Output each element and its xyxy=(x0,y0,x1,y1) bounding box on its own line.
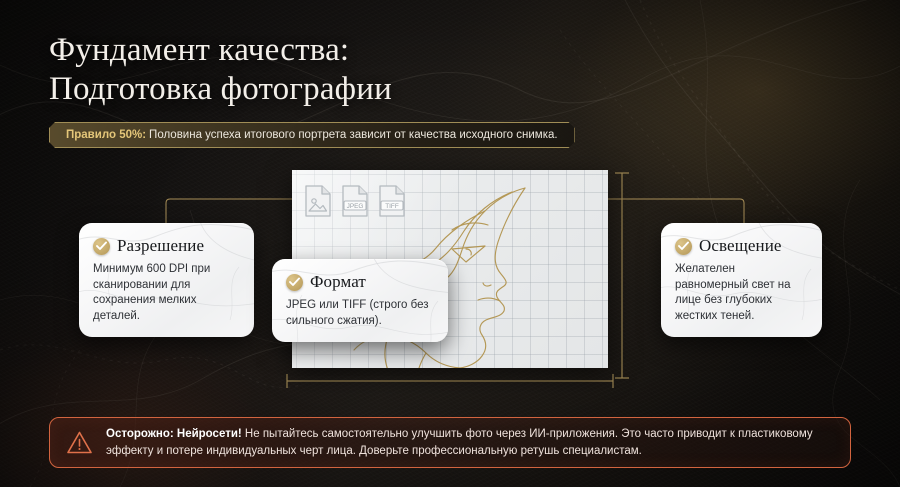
card-header: Разрешение xyxy=(93,237,238,255)
info-card-lighting: Освещение Желателен равномерный свет на … xyxy=(661,223,822,337)
file-type-icons: JPEG TIFF xyxy=(304,184,406,218)
warning-banner: Осторожно: Нейросети! Не пытайтесь самос… xyxy=(49,417,851,468)
info-card-resolution: Разрешение Минимум 600 DPI при сканирова… xyxy=(79,223,254,337)
check-circle-icon xyxy=(286,274,303,291)
card-title: Освещение xyxy=(699,237,782,255)
slide-canvas: Фундамент качества: Подготовка фотографи… xyxy=(0,0,900,487)
check-circle-icon xyxy=(93,238,110,255)
jpeg-file-icon-label: JPEG xyxy=(347,203,364,210)
card-body: Минимум 600 DPI при сканировании для сох… xyxy=(93,262,238,324)
check-circle-icon xyxy=(675,238,692,255)
card-header: Освещение xyxy=(675,237,806,255)
tiff-file-icon-label: TIFF xyxy=(385,203,399,210)
warning-label: Осторожно: Нейросети! xyxy=(106,428,242,440)
card-header: Формат xyxy=(286,273,432,291)
card-body: JPEG или TIFF (строго без сильного сжати… xyxy=(286,298,432,329)
jpeg-file-icon: JPEG xyxy=(341,184,369,218)
card-title: Разрешение xyxy=(117,237,204,255)
measure-bracket-vertical xyxy=(615,173,629,378)
info-card-format: Формат JPEG или TIFF (строго без сильног… xyxy=(272,259,448,342)
warning-triangle-icon xyxy=(66,430,93,455)
measure-bracket-horizontal xyxy=(287,374,613,388)
image-file-icon xyxy=(304,184,332,218)
card-body: Желателен равномерный свет на лице без г… xyxy=(675,262,806,324)
card-title: Формат xyxy=(310,273,366,291)
warning-text: Осторожно: Нейросети! Не пытайтесь самос… xyxy=(106,426,834,460)
tiff-file-icon: TIFF xyxy=(378,184,406,218)
